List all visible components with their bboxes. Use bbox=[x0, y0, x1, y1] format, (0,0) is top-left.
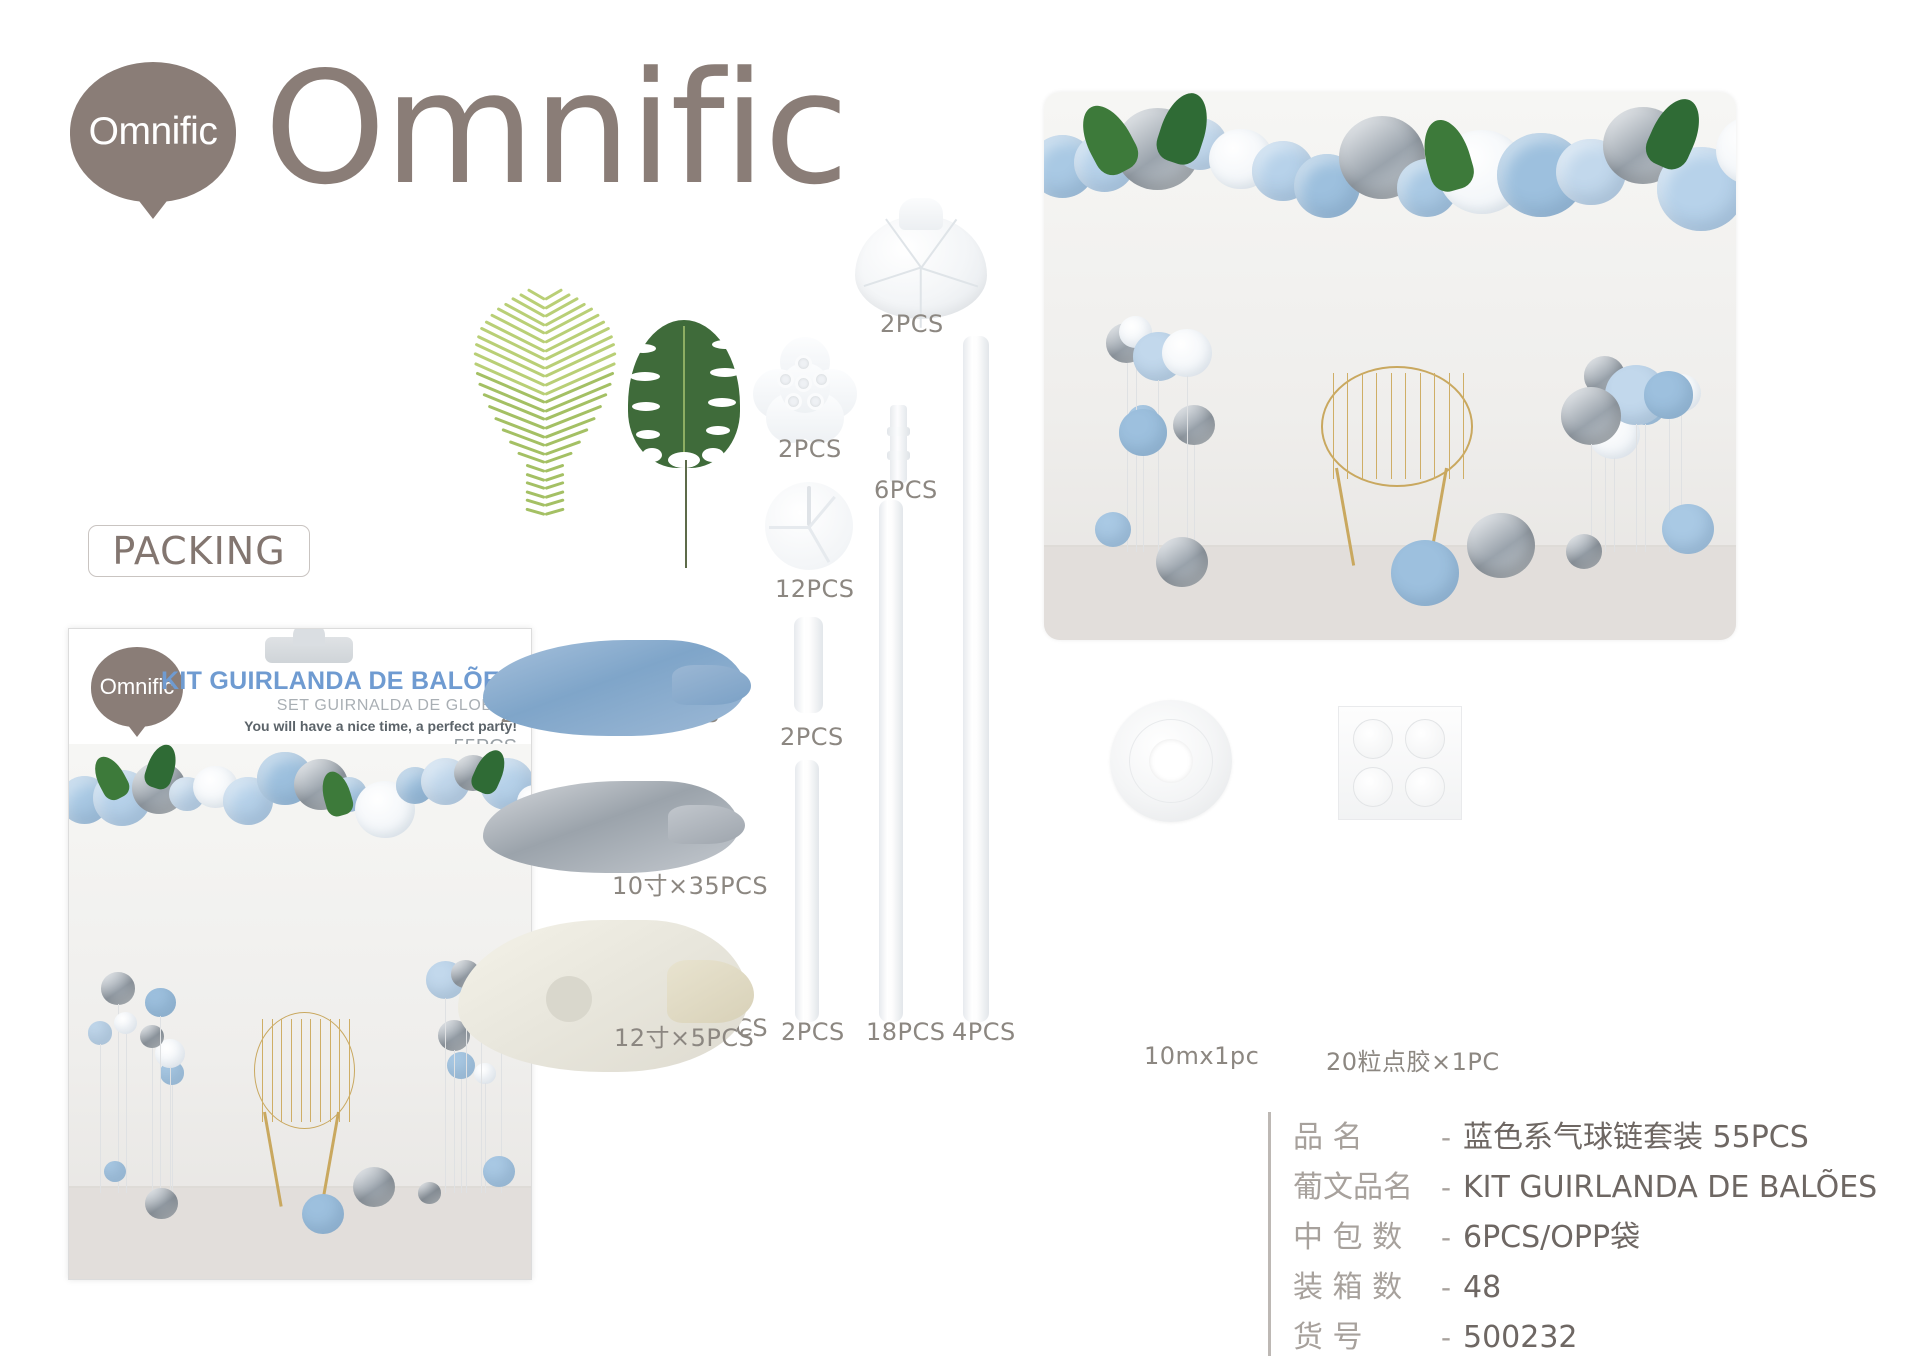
spec-key: 品 名 bbox=[1293, 1112, 1429, 1156]
balloon-stick bbox=[445, 998, 446, 1193]
palm-leaflet-icon bbox=[525, 499, 545, 508]
floor-balloon bbox=[353, 1167, 395, 1207]
photo-chair bbox=[254, 1012, 356, 1130]
chair-mesh-line bbox=[1449, 373, 1450, 479]
spec-value: KIT GUIRLANDA DE BALÕES bbox=[1463, 1170, 1877, 1205]
floor-balloon bbox=[483, 1156, 515, 1187]
floor-balloon bbox=[418, 1182, 440, 1203]
bouquet-balloon bbox=[101, 972, 135, 1004]
balloon-stick bbox=[461, 1079, 462, 1194]
dome-spoke-icon bbox=[921, 267, 979, 287]
chair-mesh-line bbox=[262, 1019, 263, 1123]
chair-mesh-line bbox=[339, 1019, 340, 1123]
chair-mesh-line bbox=[272, 1019, 273, 1123]
chair-mesh-line bbox=[1376, 373, 1377, 479]
palm-leaflet-icon bbox=[545, 508, 565, 516]
monstera-stem-icon bbox=[685, 460, 687, 568]
monstera-cut-icon bbox=[708, 398, 736, 407]
chair-mesh-line bbox=[1420, 373, 1421, 479]
package-subtitle: SET GUIRNALDA DE GLOBOS bbox=[161, 697, 517, 715]
spec-table: 品 名-蓝色系气球链套装 55PCS葡文品名-KIT GUIRLANDA DE … bbox=[1268, 1112, 1877, 1356]
bouquet-balloon bbox=[1162, 329, 1212, 377]
brand-wordmark: Omnific bbox=[264, 55, 847, 202]
short-rod-illustration bbox=[795, 760, 819, 1022]
spec-key: 中 包 数 bbox=[1293, 1212, 1429, 1256]
spec-dash: - bbox=[1441, 1271, 1451, 1305]
hang-hole-icon bbox=[265, 637, 353, 663]
monstera-cut-icon bbox=[642, 448, 662, 462]
chair-mesh-line bbox=[291, 1019, 292, 1123]
balloon-stick bbox=[1194, 445, 1195, 553]
palm-leaflet-icon bbox=[545, 499, 565, 508]
balloon-stick bbox=[1636, 424, 1637, 552]
bouquet-balloon bbox=[145, 988, 175, 1017]
package-balloon-knot-icon bbox=[127, 724, 147, 737]
long-rod-qty: 4PCS bbox=[952, 1018, 1016, 1046]
packing-section-label: PACKING bbox=[88, 525, 310, 577]
package-title: KIT GUIRLANDA DE BALÕES bbox=[161, 667, 517, 696]
palm-leaflet-icon bbox=[545, 490, 565, 499]
balloon-stick bbox=[454, 1050, 455, 1193]
glue-dots-illustration bbox=[1338, 706, 1462, 820]
flower-disc-qty: 2PCS bbox=[778, 435, 842, 463]
chair-mesh-line bbox=[349, 1019, 350, 1123]
spec-value: 48 bbox=[1463, 1270, 1501, 1305]
spec-table-divider bbox=[1268, 1112, 1271, 1356]
floor-balloon bbox=[1467, 513, 1535, 578]
medium-rod-qty: 18PCS bbox=[866, 1018, 946, 1046]
short-tube-illustration bbox=[794, 617, 823, 713]
flower-hole-icon bbox=[795, 375, 812, 392]
floor-balloon bbox=[1095, 512, 1131, 547]
balloon-stick bbox=[1187, 376, 1188, 552]
monstera-blade-icon bbox=[628, 320, 740, 468]
monstera-leaf-illustration bbox=[620, 320, 750, 570]
spec-key: 货 号 bbox=[1293, 1312, 1429, 1356]
balloon-stick bbox=[100, 1044, 101, 1193]
flower-hole-icon bbox=[777, 371, 794, 388]
spec-row: 葡文品名-KIT GUIRLANDA DE BALÕES bbox=[1293, 1162, 1877, 1206]
spec-row: 货 号-500232 bbox=[1293, 1312, 1877, 1356]
monstera-cut-icon bbox=[712, 340, 738, 349]
spec-dash: - bbox=[1441, 1121, 1451, 1155]
bouquet-balloon bbox=[1644, 371, 1694, 419]
dome-cup-qty: 2PCS bbox=[880, 310, 944, 338]
connector-illustration bbox=[890, 405, 907, 483]
flower-hole-icon bbox=[795, 355, 812, 372]
clip-arm-icon bbox=[769, 526, 809, 529]
brand-balloon-logo-icon: Omnific bbox=[70, 62, 236, 212]
chair-mesh-line bbox=[1362, 373, 1363, 479]
floor-balloon bbox=[145, 1188, 177, 1219]
glue-dots-qty: 20粒点胶×1PC bbox=[1326, 1042, 1500, 1077]
chair-mesh-line bbox=[1333, 373, 1334, 479]
palm-leaflet-icon bbox=[545, 481, 565, 490]
monstera-cut-icon bbox=[630, 344, 656, 353]
spec-dash: - bbox=[1441, 1321, 1451, 1355]
chair-mesh-line bbox=[1463, 373, 1464, 479]
silver-balloon-illustration bbox=[483, 781, 739, 873]
package-slogan: You will have a nice time, a perfect par… bbox=[161, 718, 517, 734]
hero-lifestyle-photo bbox=[1044, 92, 1736, 640]
spec-table-rows: 品 名-蓝色系气球链套装 55PCS葡文品名-KIT GUIRLANDA DE … bbox=[1293, 1112, 1877, 1356]
glue-dot-icon bbox=[1353, 719, 1393, 759]
spec-dash: - bbox=[1441, 1221, 1451, 1255]
chair-mesh-line bbox=[310, 1019, 311, 1123]
clip-disc-illustration bbox=[765, 482, 853, 570]
monstera-cut-icon bbox=[702, 448, 724, 462]
short-rod-qty: 2PCS bbox=[781, 1018, 845, 1046]
photo-floor bbox=[1044, 547, 1736, 640]
brand-header: Omnific Omnific bbox=[70, 62, 847, 212]
spec-value: 6PCS/OPP袋 bbox=[1463, 1212, 1640, 1256]
spec-key: 装 箱 数 bbox=[1293, 1262, 1429, 1306]
package-card-header: Omnific KIT GUIRLANDA DE BALÕES SET GUIR… bbox=[69, 629, 531, 744]
confetti-balloon-qty: 12寸×5PCS bbox=[614, 1018, 754, 1053]
photo-chair bbox=[1321, 366, 1473, 487]
clip-arm-icon bbox=[808, 496, 836, 529]
chair-mesh-line bbox=[320, 1019, 321, 1123]
palm-leaflet-icon bbox=[525, 481, 545, 490]
monstera-cut-icon bbox=[636, 430, 660, 439]
balloon-stick bbox=[172, 1085, 173, 1193]
chair-mesh-line bbox=[1405, 373, 1406, 479]
chair-mesh-line bbox=[301, 1019, 302, 1123]
clip-arm-icon bbox=[808, 527, 831, 563]
glue-dot-icon bbox=[1405, 767, 1445, 807]
monstera-cut-icon bbox=[630, 372, 660, 381]
brand-logo-text: Omnific bbox=[89, 110, 218, 154]
palm-leaflet-icon bbox=[525, 508, 545, 516]
dome-spoke-icon bbox=[864, 267, 922, 287]
balloon-stick bbox=[1143, 456, 1144, 552]
bouquet-balloon bbox=[114, 1012, 137, 1034]
floor-balloon bbox=[1391, 540, 1459, 605]
palm-leaflet-icon bbox=[545, 464, 565, 473]
monstera-cut-icon bbox=[668, 452, 700, 468]
photo-floor bbox=[69, 1188, 531, 1279]
photo-wall-line bbox=[1044, 545, 1736, 547]
palm-leaflet-icon bbox=[526, 464, 546, 473]
balloon-stick bbox=[1614, 458, 1615, 552]
balloon-stick bbox=[170, 1067, 171, 1193]
floor-balloon bbox=[104, 1161, 126, 1182]
balloon-stick bbox=[152, 1048, 153, 1194]
chair-mesh-line bbox=[1434, 373, 1435, 479]
monstera-cut-icon bbox=[710, 368, 740, 377]
chair-mesh-line bbox=[330, 1019, 331, 1123]
palm-leaflet-icon bbox=[545, 472, 565, 481]
monstera-cut-icon bbox=[706, 426, 730, 435]
palm-frond-illustration bbox=[470, 290, 620, 580]
product-spec-sheet: Omnific Omnific PACKING Omnific KIT GUIR… bbox=[0, 0, 1920, 1338]
medium-rod-illustration bbox=[879, 500, 903, 1022]
floor-balloon bbox=[302, 1194, 344, 1234]
spec-row: 品 名-蓝色系气球链套装 55PCS bbox=[1293, 1112, 1877, 1156]
spec-row: 中 包 数-6PCS/OPP袋 bbox=[1293, 1212, 1877, 1256]
balloon-stick bbox=[126, 1034, 127, 1193]
long-rod-illustration bbox=[963, 336, 989, 1022]
bouquet-balloon bbox=[1119, 409, 1168, 456]
chair-mesh-line bbox=[1347, 373, 1348, 479]
chair-mesh-line bbox=[281, 1019, 282, 1123]
blue-balloon-illustration bbox=[483, 640, 745, 736]
balloon-tape-qty: 10mx1pc bbox=[1144, 1042, 1259, 1070]
glue-dot-icon bbox=[1405, 719, 1445, 759]
flower-disc-illustration bbox=[753, 337, 857, 437]
flower-hole-icon bbox=[807, 393, 824, 410]
chair-mesh-line bbox=[1391, 373, 1392, 479]
short-tube-qty: 2PCS bbox=[780, 723, 844, 751]
glue-dot-icon bbox=[1353, 767, 1393, 807]
clip-disc-qty: 12PCS bbox=[775, 575, 855, 603]
spec-dash: - bbox=[1441, 1171, 1451, 1205]
flower-hole-icon bbox=[813, 371, 830, 388]
balloon-stick bbox=[160, 1016, 161, 1193]
dome-cup-illustration bbox=[855, 215, 987, 319]
bouquet-balloon bbox=[1561, 387, 1621, 445]
balloon-tape-illustration bbox=[1110, 700, 1232, 822]
floor-balloon bbox=[1566, 534, 1602, 569]
balloon-knot-icon bbox=[136, 197, 170, 219]
spec-row: 装 箱 数-48 bbox=[1293, 1262, 1877, 1306]
palm-leaflet-icon bbox=[525, 490, 545, 499]
floor-balloon bbox=[1662, 504, 1714, 554]
spec-key: 葡文品名 bbox=[1293, 1162, 1429, 1206]
monstera-cut-icon bbox=[632, 402, 660, 411]
flower-hole-icon bbox=[785, 393, 802, 410]
spec-value: 蓝色系气球链套装 55PCS bbox=[1463, 1112, 1809, 1156]
palm-leaflet-icon bbox=[526, 472, 546, 481]
bouquet-balloon bbox=[88, 1021, 112, 1044]
balloon-stick bbox=[1158, 380, 1159, 552]
balloon-stick bbox=[1645, 424, 1646, 552]
bouquet-balloon bbox=[1173, 405, 1215, 446]
